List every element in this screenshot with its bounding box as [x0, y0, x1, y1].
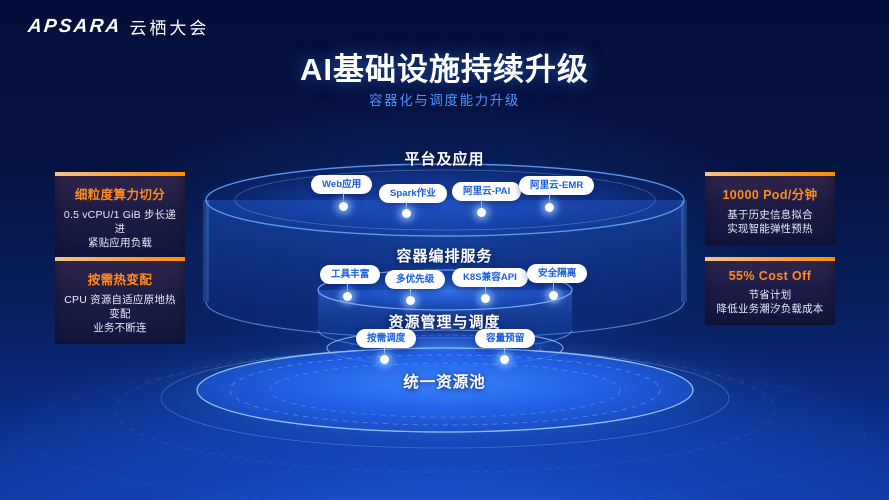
node-dot [549, 291, 558, 300]
node-dot [339, 202, 348, 211]
node-dot [545, 203, 554, 212]
page-subtitle: 容器化与调度能力升级 [0, 89, 889, 109]
pill-multi-priority[interactable]: 多优先级 [385, 270, 445, 289]
slide-canvas: APSARA 云栖大会 AI基础设施持续升级 容器化与调度能力升级 细粒度算力切… [0, 0, 889, 500]
card-line: 基于历史信息拟合 [712, 208, 828, 222]
apsara-logo: APSARA 云栖大会 [28, 14, 209, 39]
pill-capacity-reservation[interactable]: 容量预留 [475, 329, 535, 348]
card-line: 节省计划 [712, 288, 828, 302]
logo-wordmark: APSARA [27, 16, 123, 38]
card-title: 按需热变配 [62, 269, 178, 288]
pill-web-app[interactable]: Web应用 [311, 175, 372, 194]
pill-k8s-compatible-api[interactable]: K8S兼容API [452, 268, 528, 287]
pill-rich-tooling[interactable]: 工具丰富 [320, 265, 380, 284]
card-title: 10000 Pod/分钟 [712, 184, 828, 203]
page-title: AI基础设施持续升级 [0, 44, 889, 89]
pill-spark-job[interactable]: Spark作业 [379, 184, 447, 203]
card-line: 实现智能弹性预热 [712, 222, 828, 236]
pill-aliyun-pai[interactable]: 阿里云-PAI [452, 182, 521, 201]
pill-on-demand-scheduling[interactable]: 按需调度 [356, 329, 416, 348]
layer-label-orchestration: 容器编排服务 [0, 245, 889, 266]
card-title: 55% Cost Off [712, 269, 828, 283]
node-dot [402, 209, 411, 218]
node-dot [500, 355, 509, 364]
node-dot [406, 296, 415, 305]
pill-aliyun-emr[interactable]: 阿里云-EMR [519, 176, 594, 195]
card-line: 0.5 vCPU/1 GiB 步长递进 [62, 208, 178, 236]
layer-label-resource-pool: 统一资源池 [0, 370, 889, 392]
logo-chinese-name: 云栖大会 [129, 14, 209, 39]
layer-label-scheduling: 资源管理与调度 [0, 311, 889, 332]
node-dot [481, 294, 490, 303]
pill-secure-isolation[interactable]: 安全隔离 [527, 264, 587, 283]
layer-label-platform: 平台及应用 [0, 148, 889, 169]
node-dot [477, 208, 486, 217]
card-title: 细粒度算力切分 [62, 184, 178, 203]
feature-card-pod-throughput: 10000 Pod/分钟 基于历史信息拟合 实现智能弹性预热 [705, 172, 835, 245]
node-dot [380, 355, 389, 364]
node-dot [343, 292, 352, 301]
